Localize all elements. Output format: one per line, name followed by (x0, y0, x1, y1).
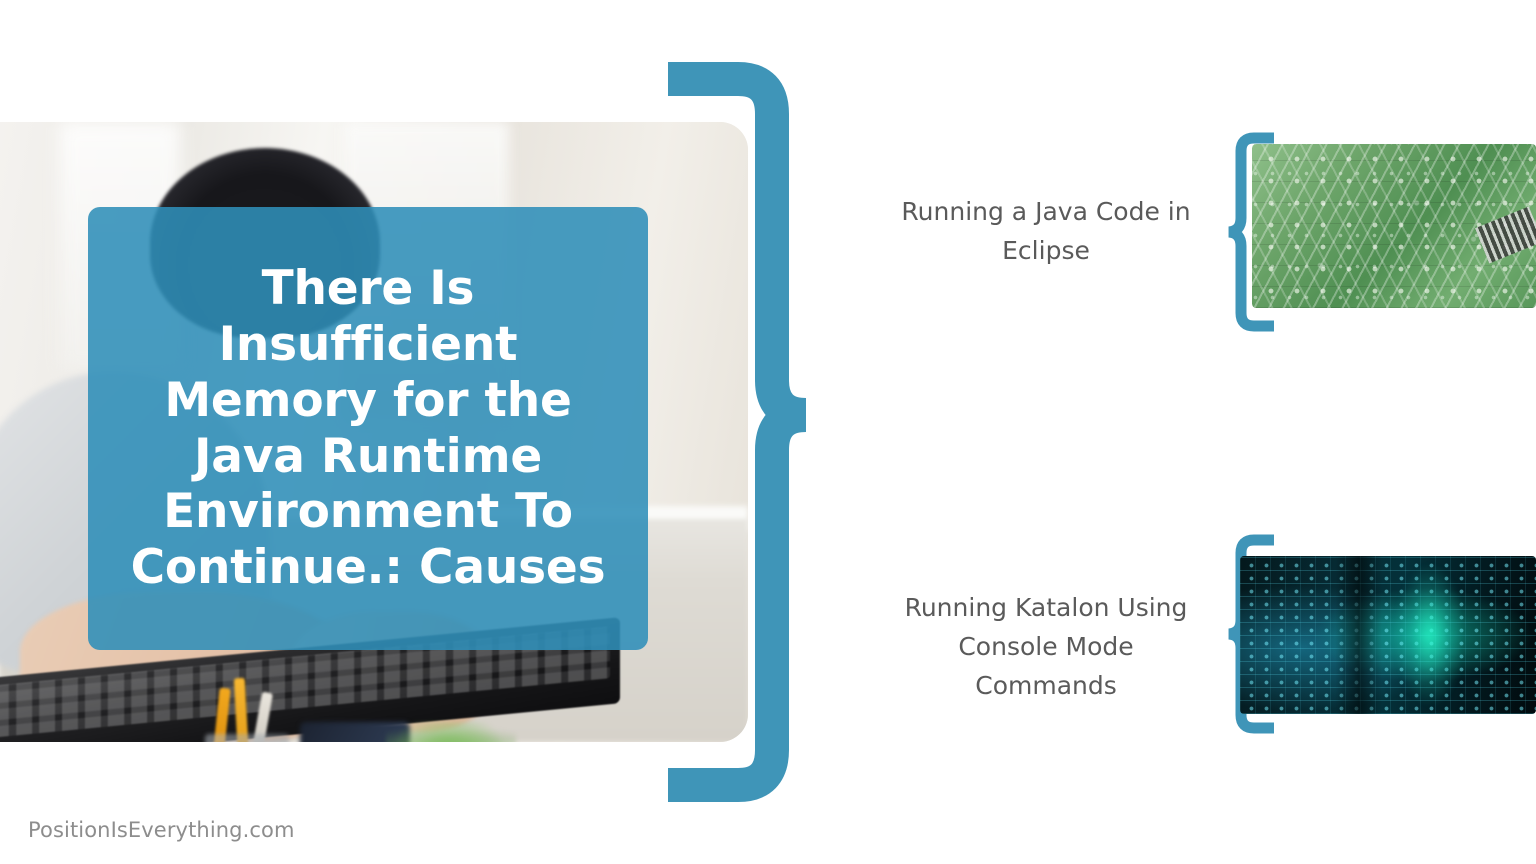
page-title: There Is Insufficient Memory for the Jav… (112, 261, 624, 597)
item-thumbnail-digital-grid (1240, 556, 1536, 714)
item-label-eclipse: Running a Java Code in Eclipse (896, 192, 1196, 270)
item-thumbnail-circuit-board (1252, 144, 1536, 308)
photo-plant-leaves (386, 722, 516, 742)
infographic-canvas: There Is Insufficient Memory for the Jav… (0, 0, 1536, 864)
title-card: There Is Insufficient Memory for the Jav… (88, 207, 648, 650)
photo-pencil-cup (205, 734, 289, 742)
right-curly-brace-icon (668, 79, 806, 785)
digital-grid-dots (1240, 556, 1536, 714)
item-label-katalon: Running Katalon Using Console Mode Comma… (896, 588, 1196, 705)
digital-glow-arc (1395, 565, 1465, 704)
site-watermark: PositionIsEverything.com (28, 818, 295, 842)
digital-dark-band (1335, 556, 1382, 714)
center-brace (650, 62, 850, 802)
